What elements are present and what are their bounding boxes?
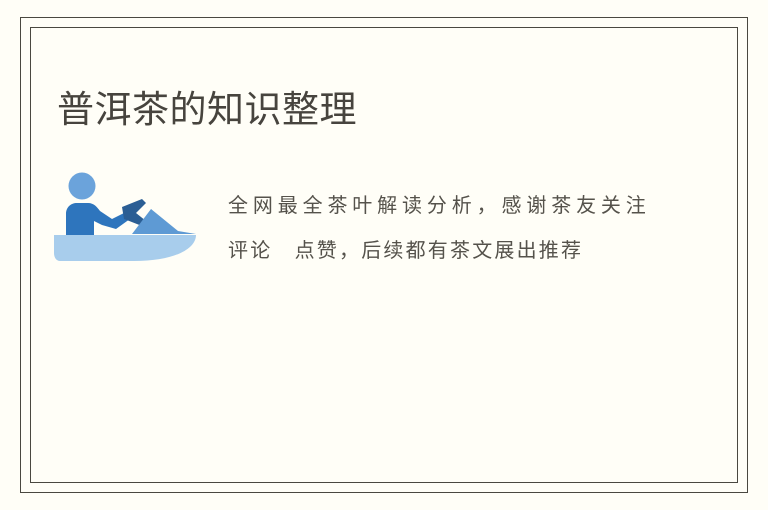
document-page: 普洱茶的知识整理 全网最全茶叶解读分析，感谢茶友关注 评论 点赞， xyxy=(0,0,768,510)
document-content: 普洱茶的知识整理 全网最全茶叶解读分析，感谢茶友关注 评论 点赞， xyxy=(30,27,738,483)
article-paragraph: 全网最全茶叶解读分析，感谢茶友关注 评论 点赞，后续都有茶文展出推荐 xyxy=(210,177,648,273)
article-body: 全网最全茶叶解读分析，感谢茶友关注 评论 点赞，后续都有茶文展出推荐 xyxy=(50,157,720,293)
illustration-figure xyxy=(50,157,210,269)
page-title: 普洱茶的知识整理 xyxy=(57,87,357,133)
person-rowing-boat-icon xyxy=(50,169,200,269)
